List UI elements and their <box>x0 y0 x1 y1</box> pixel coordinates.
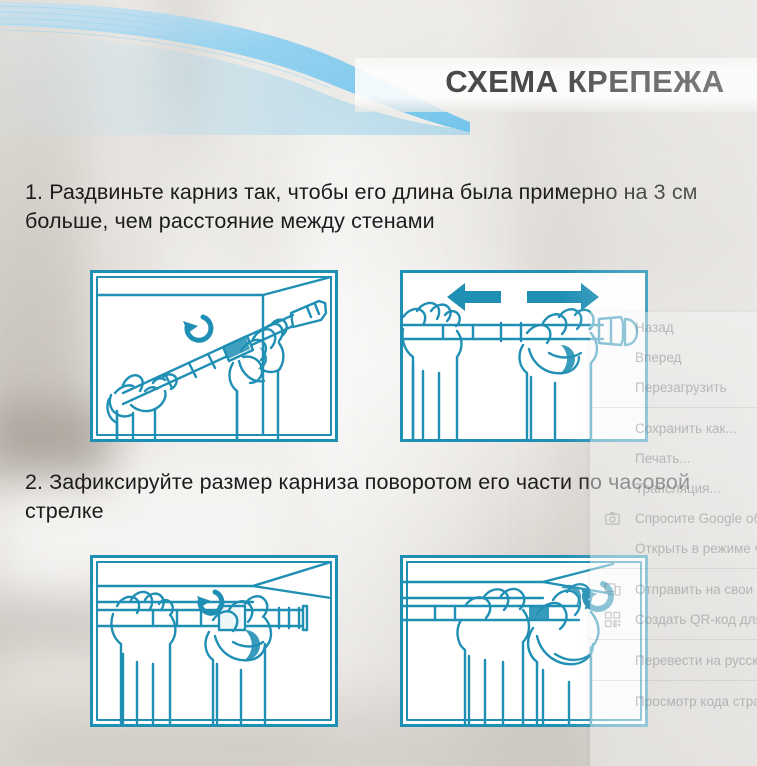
context-menu-item[interactable]: Сохранить как... <box>590 413 757 443</box>
context-menu-item[interactable]: Вперед <box>590 342 757 372</box>
context-menu-item[interactable]: Отправить на свои устр <box>590 574 757 604</box>
camera-icon <box>604 510 621 527</box>
context-menu-separator <box>590 639 757 640</box>
instruction-graphic-with-context-menu: СХЕМА КРЕПЕЖА 1. Раздвиньте карниз так, … <box>0 0 757 766</box>
context-menu-item[interactable]: Перезагрузить <box>590 372 757 402</box>
context-menu-item-label: Сохранить как... <box>635 421 737 436</box>
context-menu-item[interactable]: Назад <box>590 312 757 342</box>
step-1-instruction: 1. Раздвиньте карниз так, чтобы его длин… <box>25 178 740 236</box>
context-menu-item[interactable]: Перевести на русский <box>590 645 757 675</box>
context-menu-separator <box>590 568 757 569</box>
context-menu-item[interactable]: Открыть в режиме чтен <box>590 533 757 563</box>
illustration-panel-3 <box>90 555 338 727</box>
context-menu-item[interactable]: Просмотр кода страниц <box>590 686 757 716</box>
context-menu-item-label: Перезагрузить <box>635 380 727 395</box>
context-menu-item[interactable]: Спросите Google об это <box>590 503 757 533</box>
context-menu-item[interactable]: Создать QR-код для это <box>590 604 757 634</box>
context-menu[interactable]: НазадВпередПерезагрузитьСохранить как...… <box>590 312 757 766</box>
context-menu-item-label: Отправить на свои устр <box>635 582 757 597</box>
background-blob-right-upper <box>520 0 757 300</box>
context-menu-item-label: Назад <box>635 320 674 335</box>
illustration-panel-1 <box>90 270 338 442</box>
direction-arrows <box>447 283 599 311</box>
qr-icon <box>604 611 621 628</box>
panel-1-drawing <box>93 273 335 439</box>
context-menu-item-label: Вперед <box>635 350 681 365</box>
context-menu-item[interactable]: Печать... <box>590 443 757 473</box>
context-menu-item[interactable]: Трансляция... <box>590 473 757 503</box>
context-menu-item-label: Спросите Google об это <box>635 511 757 526</box>
panel-3-drawing <box>93 558 335 724</box>
context-menu-item-label: Открыть в режиме чтен <box>635 541 757 556</box>
context-menu-item-label: Просмотр кода страниц <box>635 694 757 709</box>
context-menu-item-label: Трансляция... <box>635 481 721 496</box>
context-menu-item-label: Печать... <box>635 451 690 466</box>
context-menu-item-label: Создать QR-код для это <box>635 612 757 627</box>
devices-icon <box>604 581 621 598</box>
context-menu-separator <box>590 680 757 681</box>
page-title: СХЕМА КРЕПЕЖА <box>420 64 750 100</box>
context-menu-separator <box>590 407 757 408</box>
context-menu-item-label: Перевести на русский <box>635 653 757 668</box>
